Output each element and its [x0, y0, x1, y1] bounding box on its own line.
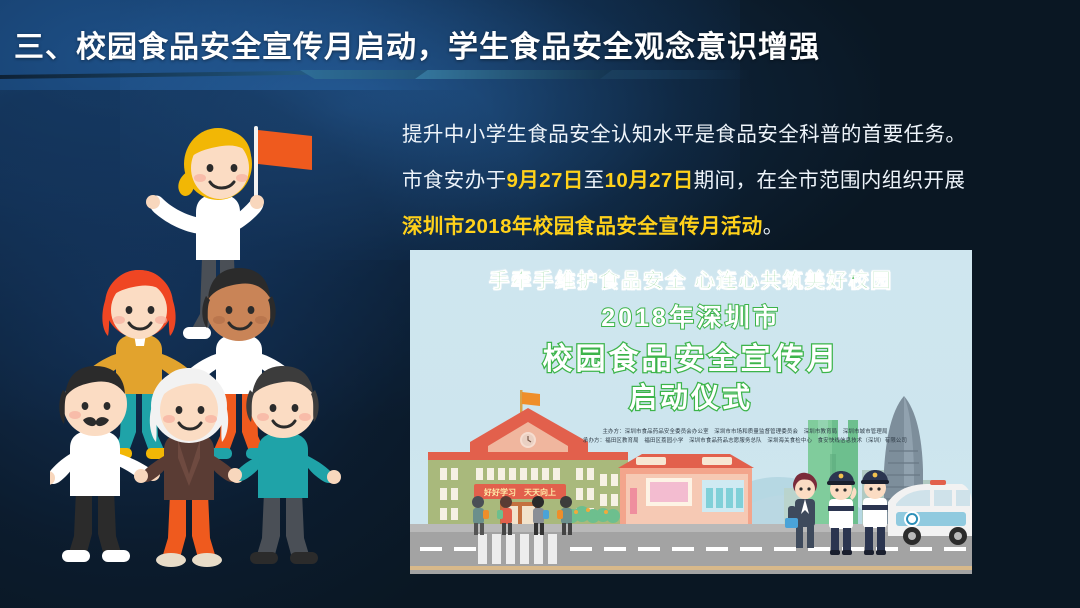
divider-segment-3: [415, 70, 625, 79]
people-pyramid-illustration: [50, 118, 380, 578]
slide-root: 三、校园食品安全宣传月启动，学生食品安全观念意识增强 提升中小学生食品安全认知水…: [0, 0, 1080, 608]
body-text-middle: 期间，在全市范围内组织开展: [694, 169, 966, 192]
header-divider: [0, 70, 760, 84]
page-title: 三、校园食品安全宣传月启动，学生食品安全观念意识增强: [14, 22, 820, 66]
poster-organizers-line-2: 承办方：福田区教育局 福田区荔园小学 深圳市食品药品志愿服务总队 深圳海关食检中…: [530, 437, 960, 446]
poster-title-line-2: 校园食品安全宣传月: [410, 334, 972, 378]
highlight-date-end: 10月27日: [605, 169, 694, 192]
slide-header: 三、校园食品安全宣传月启动，学生食品安全观念意识增强: [0, 0, 1080, 88]
poster-organizers: 主办方：深圳市食品药品安全委员会办公室 深圳市市场和质量监督管理委员会 深圳市教…: [530, 428, 960, 446]
body-text-between: 至: [584, 169, 605, 192]
poster-organizers-line-1: 主办方：深圳市食品药品安全委员会办公室 深圳市市场和质量监督管理委员会 深圳市教…: [530, 428, 960, 437]
poster-title-line-3: 启动仪式: [410, 376, 972, 416]
body-text-end: 。: [763, 215, 784, 238]
highlight-date-start: 9月27日: [507, 169, 584, 192]
divider-segment-4: [600, 70, 750, 79]
highlight-campaign-name: 深圳市2018年校园食品安全宣传月活动: [402, 215, 763, 238]
body-paragraph: 提升中小学生食品安全认知水平是食品安全科普的首要任务。市食安办于9月27日至10…: [402, 112, 984, 250]
campaign-poster-image: 好好学习 天天向上: [410, 250, 972, 574]
poster-slogan: 手牵手维护食品安全 心连心共筑美好校园: [410, 264, 972, 293]
poster-title-line-1: 2018年深圳市: [410, 298, 972, 334]
poster-school-banner-text: 好好学习 天天向上: [483, 487, 556, 497]
